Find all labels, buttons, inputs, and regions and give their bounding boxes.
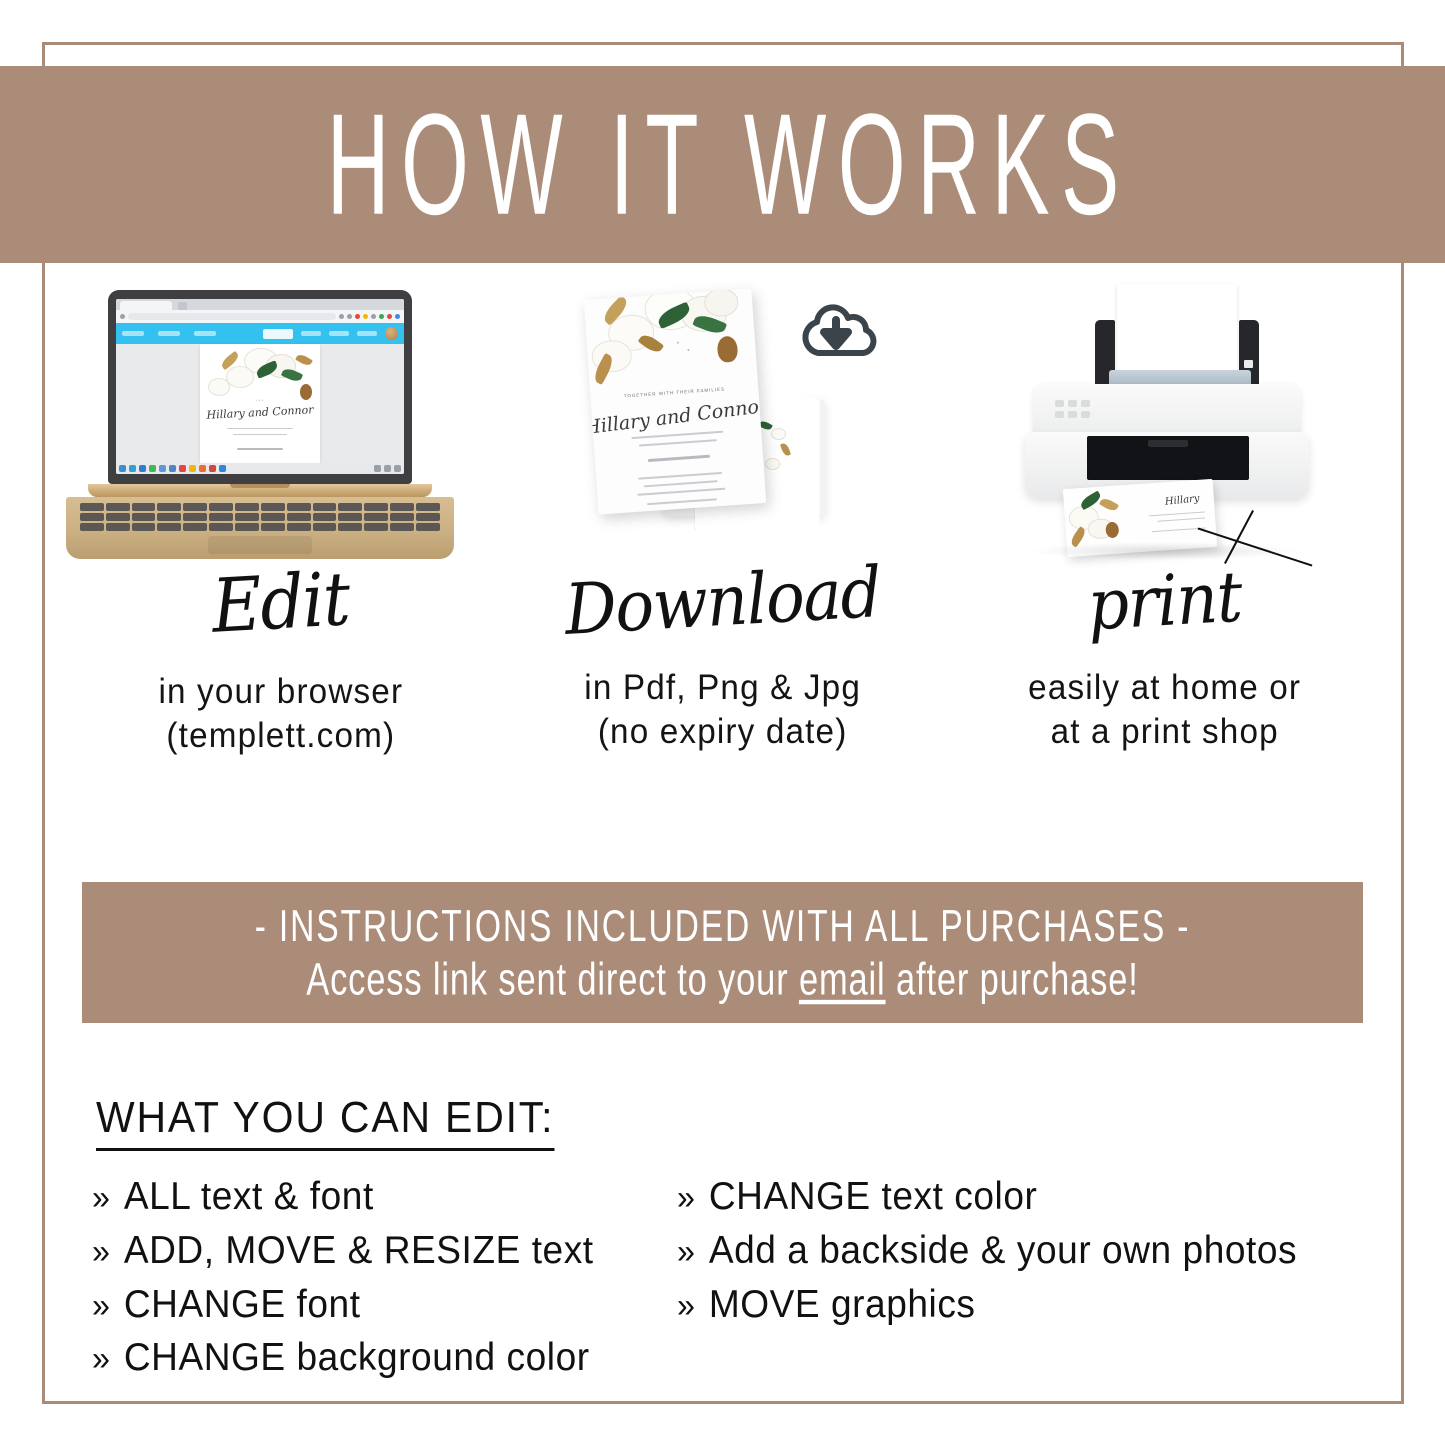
browser-tab	[120, 301, 172, 310]
edit-list-right: » CHANGE text color » Add a backside & y…	[677, 1170, 1377, 1385]
list-item: » CHANGE text color	[677, 1170, 1342, 1224]
feature-caption-edit: in your browser (templett.com)	[158, 670, 403, 759]
list-item: » CHANGE font	[92, 1278, 648, 1332]
list-item-label: ALL text & font	[124, 1170, 374, 1224]
editor-toolbar	[116, 323, 404, 344]
feature-script-label-edit: Edit	[211, 562, 351, 644]
list-item: » ALL text & font	[92, 1170, 648, 1224]
chevron-right-icon: »	[677, 1283, 696, 1330]
subline-text-before: Access link sent direct to your	[306, 953, 799, 1004]
download-button	[263, 329, 293, 339]
instructions-subline: Access link sent direct to your email af…	[306, 953, 1138, 1005]
cloud-download-icon	[793, 300, 879, 370]
browser-url-bar	[116, 310, 404, 323]
toolbar-account	[329, 331, 349, 336]
list-item: » ADD, MOVE & RESIZE text	[92, 1224, 648, 1278]
feature-caption-print: easily at home or at a print shop	[1028, 666, 1301, 755]
toolbar-menu-undo	[194, 331, 216, 336]
list-item-label: CHANGE font	[124, 1278, 361, 1332]
chevron-right-icon: »	[92, 1175, 111, 1222]
toolbar-menu-file	[122, 331, 144, 336]
feature-download: MJC TOGETHER WIT	[502, 280, 944, 820]
list-item-label: ADD, MOVE & RESIZE text	[124, 1224, 594, 1278]
feature-script-label-print: print	[1086, 562, 1243, 641]
laptop-trackpad	[208, 536, 312, 554]
caption-line-2: (no expiry date)	[584, 710, 861, 754]
list-item: » MOVE graphics	[677, 1278, 1342, 1332]
laptop-illustration: • • • Hillary and Connor	[60, 280, 502, 570]
list-item-label: CHANGE text color	[709, 1170, 1038, 1224]
feature-print: Hillary print easily at home or at a pri…	[943, 280, 1385, 820]
chevron-right-icon: »	[92, 1336, 111, 1383]
browser-tab-bar	[116, 299, 404, 310]
printer-top-cover	[1033, 384, 1301, 436]
toolbar-save	[301, 331, 321, 336]
laptop-screen: • • • Hillary and Connor	[116, 299, 404, 474]
caption-line-2: (templett.com)	[158, 714, 403, 758]
edit-list-left: » ALL text & font » ADD, MOVE & RESIZE t…	[92, 1170, 677, 1385]
chevron-right-icon: »	[92, 1283, 111, 1330]
reload-icon	[120, 314, 125, 319]
subline-text-after: after purchase!	[886, 953, 1139, 1004]
list-item: » CHANGE background color	[92, 1331, 648, 1385]
invitation-kicker: TOGETHER WITH THEIR FAMILIES	[623, 386, 725, 398]
laptop-hinge	[88, 484, 432, 497]
caption-line-2: at a print shop	[1028, 710, 1301, 754]
invitation-envelope-illustration: MJC TOGETHER WIT	[502, 280, 944, 570]
browser-extension-icons	[339, 314, 400, 319]
avatar	[385, 327, 398, 340]
email-link[interactable]: email	[799, 953, 886, 1004]
laptop-keyboard-deck	[66, 497, 454, 559]
invitation-preview: • • • Hillary and Connor	[200, 344, 320, 463]
feature-script-label-download: Download	[563, 557, 882, 645]
caption-line-1: in your browser	[158, 670, 403, 714]
invitation-names: Hillary and Connor	[583, 395, 766, 439]
new-tab-icon	[178, 302, 187, 310]
page-title: HOW IT WORKS	[315, 93, 1130, 237]
chevron-right-icon: »	[92, 1229, 111, 1276]
printer-control-buttons	[1055, 400, 1090, 418]
caption-line-1: in Pdf, Png & Jpg	[584, 666, 861, 710]
laptop-lid: • • • Hillary and Connor	[108, 290, 412, 484]
editor-canvas: • • • Hillary and Connor	[116, 344, 404, 463]
list-item-label: Add a backside & your own photos	[709, 1224, 1297, 1278]
instructions-banner: - INSTRUCTIONS INCLUDED WITH ALL PURCHAS…	[82, 882, 1363, 1023]
url-field	[128, 313, 336, 320]
printer-output-slot	[1087, 436, 1249, 480]
printer-shadow	[1029, 542, 1299, 560]
edit-section-lists: » ALL text & font » ADD, MOVE & RESIZE t…	[92, 1170, 1392, 1385]
laptop-keyboard	[66, 503, 454, 531]
feature-edit: • • • Hillary and Connor	[60, 280, 502, 820]
toolbar-menu-options	[158, 331, 180, 336]
os-taskbar	[116, 463, 404, 474]
chevron-right-icon: »	[677, 1175, 696, 1222]
toolbar-help	[357, 331, 377, 336]
invitation-card: TOGETHER WITH THEIR FAMILIES Hillary and…	[583, 288, 766, 514]
feature-caption-download: in Pdf, Png & Jpg (no expiry date)	[584, 666, 861, 755]
caption-line-1: easily at home or	[1028, 666, 1301, 710]
printer-illustration: Hillary	[943, 280, 1385, 570]
list-item-label: CHANGE background color	[124, 1331, 590, 1385]
instructions-headline: - INSTRUCTIONS INCLUDED WITH ALL PURCHAS…	[255, 901, 1191, 952]
chevron-right-icon: »	[677, 1229, 696, 1276]
header-banner: HOW IT WORKS	[0, 66, 1445, 263]
list-item: » Add a backside & your own photos	[677, 1224, 1342, 1278]
edit-section-heading: WHAT YOU CAN EDIT:	[96, 1093, 554, 1151]
list-item-label: MOVE graphics	[709, 1278, 976, 1332]
feature-columns: • • • Hillary and Connor	[60, 280, 1385, 820]
